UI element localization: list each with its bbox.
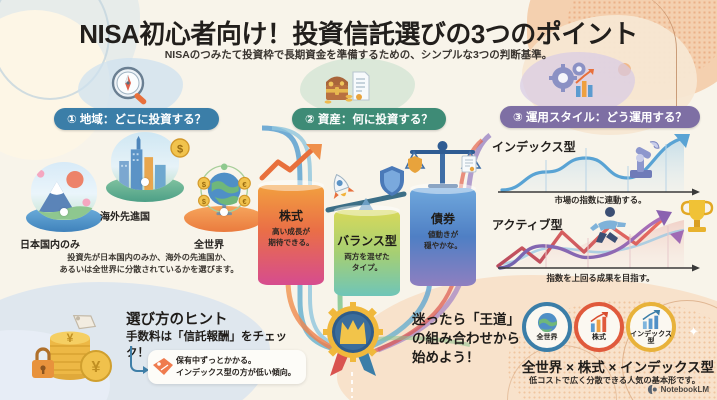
treasure-chest-document-icon <box>318 62 374 110</box>
section-style: インデックス型 市場の指数に連動する。 <box>488 132 713 284</box>
asset-label-bonds: 債券 <box>410 210 476 227</box>
asset-desc-balanced: 両方を混ぜた タイプ。 <box>334 252 400 273</box>
conclusion-text: 迷ったら「王道」 の組み合わせから 始めよう！ <box>412 310 520 367</box>
svg-text:$: $ <box>202 180 207 189</box>
region-item-japan[interactable] <box>26 168 102 232</box>
asset-text-bonds: 債券 値動きが 穏やかな。 <box>410 210 476 251</box>
hint-block: ¥ ¥ 選び方のヒント 手数料は「信託報酬」をチェック！ <box>30 300 300 395</box>
section-asset: 株式 高い成長が 期待できる。 バランス型 両方を混ぜた タイプ。 債券 値動き… <box>252 140 482 290</box>
conclusion-block: 迷ったら「王道」 の組み合わせから 始めよう！ ✦ 全世界 株式 <box>412 296 717 396</box>
style-label-active: アクティブ型 <box>492 216 563 233</box>
asset-text-stocks: 株式 高い成長が 期待できる。 <box>258 207 324 248</box>
asset-desc-stocks: 高い成長が 期待できる。 <box>258 227 324 248</box>
cylinder-top-stocks <box>258 180 324 191</box>
gears-barchart-icon <box>545 56 601 104</box>
sparkle-icon: ✦ <box>688 324 699 340</box>
svg-text:€: € <box>242 180 247 189</box>
running-person-icon <box>588 204 628 248</box>
section-header-asset[interactable]: ② 資産：何に投資する？ <box>292 108 446 130</box>
hint-callout-box[interactable]: 保有中ずっとかかる。 インデックス型の方が低い傾向。 <box>148 350 306 384</box>
ring-label-world: 全世界 <box>537 334 558 341</box>
conclusion-line3: 始めよう！ <box>412 348 520 367</box>
ring-badge-stocks[interactable]: 株式 <box>574 302 624 352</box>
cylinder-top-balanced <box>334 205 400 216</box>
svg-text:€: € <box>242 197 246 206</box>
region-knob-japan <box>60 208 68 216</box>
bar-chart-up-icon <box>589 312 610 333</box>
svg-text:¥: ¥ <box>92 359 101 376</box>
coin-stack-lock-icon: ¥ ¥ <box>30 308 118 388</box>
notebooklm-logo-icon <box>647 384 658 395</box>
ring-label-stocks: 株式 <box>592 334 606 341</box>
hint-title: 選び方のヒント <box>126 308 228 329</box>
section-header-style[interactable]: ③ 運用スタイル：どう運用する？ <box>500 106 700 128</box>
conclusion-line2: の組み合わせから <box>412 329 520 348</box>
ring-label-index: インデックス 型 <box>630 331 672 346</box>
section-region-note: 投資先が日本国内のみか、海外の先進国か、 あるいは全世界に分散されているかを選び… <box>24 252 274 276</box>
cylinder-top-bonds <box>410 183 476 194</box>
region-label-world: 全世界 <box>194 236 224 251</box>
region-knob-world <box>220 208 228 216</box>
globe-icon <box>537 312 558 333</box>
asset-label-balanced: バランス型 <box>334 232 400 249</box>
region-knob-developed <box>141 178 149 186</box>
asset-cylinder-balanced[interactable]: バランス型 両方を混ぜた タイプ。 <box>334 210 400 296</box>
infographic-canvas: NISA初心者向け！投資信託選びの3つのポイント NISAのつみたて投資枠で長期… <box>0 0 717 400</box>
crown-medal-icon <box>318 300 388 378</box>
style-label-index: インデックス型 <box>492 138 576 155</box>
asset-desc-bonds: 値動きが 穏やかな。 <box>410 230 476 251</box>
svg-text:$: $ <box>202 197 206 206</box>
conclusion-line1: 迷ったら「王道」 <box>412 310 520 329</box>
region-label-developed: 海外先進国 <box>100 208 150 223</box>
line-chart-up-icon <box>641 309 662 330</box>
region-item-developed[interactable]: $ <box>106 136 184 202</box>
brand-label: NotebookLM <box>661 385 709 394</box>
compass-magnifier-icon <box>103 62 159 110</box>
asset-cylinder-stocks[interactable]: 株式 高い成長が 期待できる。 <box>258 185 324 285</box>
section-header-region[interactable]: ① 地域：どこに投資する？ <box>54 108 219 130</box>
brand-notebooklm: NotebookLM <box>647 384 709 395</box>
hint-box-line1: 保有中ずっとかかる。 <box>176 355 296 367</box>
asset-label-stocks: 株式 <box>258 207 324 224</box>
region-label-japan: 日本国内のみ <box>20 236 80 251</box>
trophy-icon <box>677 196 717 238</box>
price-tag-icon <box>152 357 174 377</box>
style-caption-active: 指数を上回る成果を目指す。 <box>488 272 713 284</box>
asset-cylinder-bonds[interactable]: 債券 値動きが 穏やかな。 <box>410 188 476 286</box>
robot-arm-icon <box>618 136 662 180</box>
svg-text:¥: ¥ <box>67 331 74 345</box>
ring-badge-index[interactable]: インデックス 型 <box>626 302 676 352</box>
dollar-coin-icon: $ <box>170 138 190 158</box>
conclusion-combo: 全世界 × 株式 × インデックス型 <box>518 356 717 376</box>
svg-text:$: $ <box>177 144 183 156</box>
asset-text-balanced: バランス型 両方を混ぜた タイプ。 <box>334 232 400 273</box>
ring-badge-world[interactable]: 全世界 <box>522 302 572 352</box>
hint-box-line2: インデックス型の方が低い傾向。 <box>176 367 296 379</box>
